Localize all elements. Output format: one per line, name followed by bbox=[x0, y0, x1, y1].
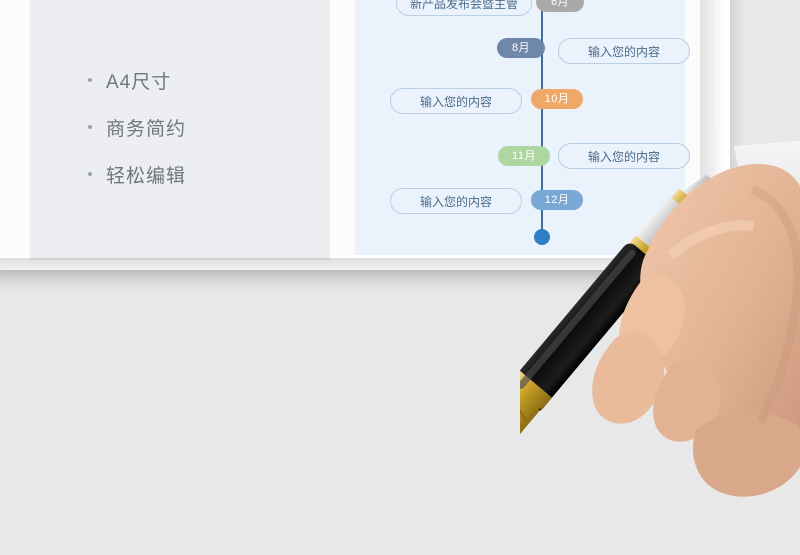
timeline-content-pill[interactable]: 新产品发布会暨主管 bbox=[396, 0, 532, 16]
timeline-month-pill[interactable]: 8月 bbox=[497, 38, 545, 58]
feature-label: A4尺寸 bbox=[106, 67, 171, 94]
feature-list: A4尺寸 商务简约 轻松编辑 bbox=[88, 62, 308, 203]
feature-label: 商务简约 bbox=[106, 114, 186, 141]
timeline-content-pill[interactable]: 输入您的内容 bbox=[390, 188, 522, 214]
screenshot-canvas: 时间轴 A4尺寸 商务简约 轻松编辑 6月 新产品发布会暨主管 8月 输入您的内… bbox=[0, 0, 800, 555]
timeline-content-pill[interactable]: 输入您的内容 bbox=[558, 38, 690, 64]
page-title: 时间轴 bbox=[58, 0, 226, 9]
bullet-dot-icon bbox=[88, 78, 92, 82]
timeline-month-pill[interactable]: 10月 bbox=[531, 89, 583, 109]
list-item: 轻松编辑 bbox=[88, 156, 308, 192]
feature-label: 轻松编辑 bbox=[106, 161, 186, 188]
bullet-dot-icon bbox=[88, 172, 92, 176]
list-item: 商务简约 bbox=[88, 109, 308, 145]
list-item: A4尺寸 bbox=[88, 62, 308, 98]
timeline-month-pill[interactable]: 6月 bbox=[536, 0, 584, 12]
timeline-content-pill[interactable]: 输入您的内容 bbox=[390, 88, 522, 114]
hand-holding-pen-icon bbox=[520, 130, 800, 555]
bullet-dot-icon bbox=[88, 125, 92, 129]
